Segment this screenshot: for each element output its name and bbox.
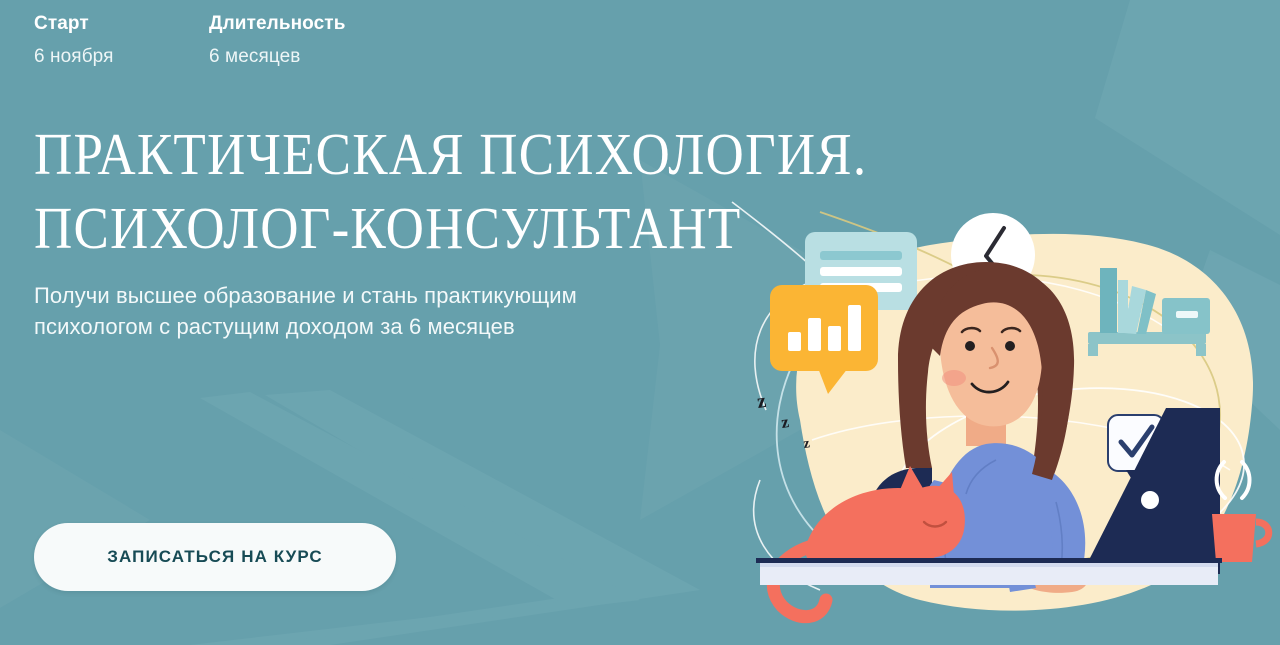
page-subtitle: Получи высшее образование и стань практи…: [34, 280, 724, 342]
page-title-line-2: ПСИХОЛОГ-КОНСУЛЬТАНТ: [34, 192, 824, 266]
desk-surface: [756, 558, 1222, 585]
meta-start-label: Старт: [34, 10, 209, 38]
svg-text:z: z: [780, 412, 791, 432]
meta-start-block: Старт 6 ноября: [34, 10, 209, 72]
page-title: ПРАКТИЧЕСКАЯ ПСИХОЛОГИЯ. ПСИХОЛОГ-КОНСУЛ…: [34, 118, 824, 266]
meta-duration-value: 6 месяцев: [209, 42, 346, 72]
laptop-logo: [1141, 491, 1159, 509]
eye-left: [965, 341, 975, 351]
enroll-course-button-label: ЗАПИСАТЬСЯ НА КУРС: [107, 547, 322, 567]
page-subtitle-line-2: психологом с растущим доходом за 6 месяц…: [34, 311, 724, 342]
course-meta-row: Старт 6 ноября Длительность 6 месяцев: [34, 10, 346, 72]
page-title-line-1: ПРАКТИЧЕСКАЯ ПСИХОЛОГИЯ.: [34, 118, 824, 192]
meta-duration-block: Длительность 6 месяцев: [209, 10, 346, 72]
meta-duration-label: Длительность: [209, 10, 346, 38]
svg-text:z: z: [756, 390, 768, 413]
cheek-blush: [942, 370, 966, 386]
meta-start-value: 6 ноября: [34, 42, 209, 72]
hero-copy-column: Старт 6 ноября Длительность 6 месяцев ПР…: [34, 0, 754, 645]
enroll-course-button[interactable]: ЗАПИСАТЬСЯ НА КУРС: [34, 523, 396, 591]
eye-right: [1005, 341, 1015, 351]
page-subtitle-line-1: Получи высшее образование и стань практи…: [34, 280, 724, 311]
